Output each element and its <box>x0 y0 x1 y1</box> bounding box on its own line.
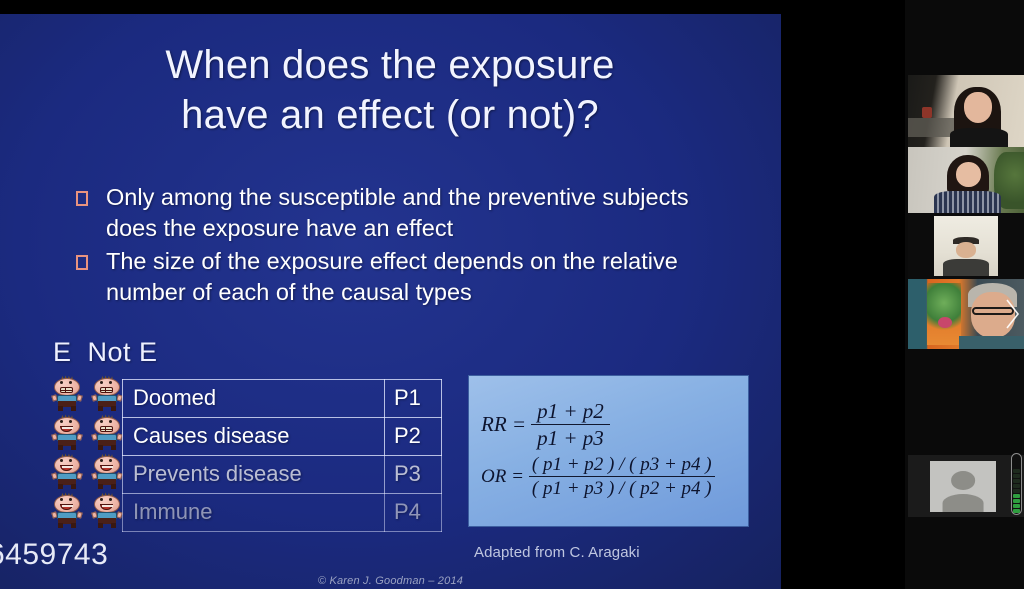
bullet-square-icon <box>76 255 88 270</box>
person-figure-icon <box>50 374 84 412</box>
column-header-not-exposed: Not E <box>88 337 158 367</box>
cell-type: Immune <box>123 494 385 532</box>
chevron-right-icon[interactable] <box>1002 295 1022 333</box>
avatar <box>930 461 996 512</box>
rr-label: RR = <box>481 412 526 437</box>
list-item: The size of the exposure effect depends … <box>76 246 716 308</box>
person-figure-icon <box>50 452 84 490</box>
person-figure-icon <box>50 413 84 451</box>
cell-type: Prevents disease <box>123 456 385 494</box>
copyright-notice: © Karen J. Goodman – 2014 <box>0 575 781 587</box>
participant-video-tile-3[interactable] <box>908 213 1024 279</box>
rr-denominator: p1 + p3 <box>531 424 610 450</box>
presentation-slide: When does the exposure have an effect (o… <box>0 14 781 589</box>
exposure-column-headers: ENot E <box>53 336 158 368</box>
cell-proportion: P2 <box>385 418 442 456</box>
screen-root: When does the exposure have an effect (o… <box>0 0 1024 589</box>
participant-filmstrip <box>905 0 1024 589</box>
or-numerator: ( p1 + p2 ) / ( p3 + p4 ) <box>529 455 715 477</box>
bullet-text: The size of the exposure effect depends … <box>106 246 716 308</box>
or-fraction: ( p1 + p2 ) / ( p3 + p4 ) ( p1 + p3 ) / … <box>529 455 715 500</box>
figure-column-exposed <box>50 374 84 529</box>
video-feed <box>908 75 1024 147</box>
attribution-note: Adapted from C. Aragaki <box>474 544 640 561</box>
table-row: Doomed P1 <box>123 380 442 418</box>
slide-number: 6459743 <box>0 538 108 572</box>
odds-ratio-formula: OR = ( p1 + p2 ) / ( p3 + p4 ) ( p1 + p3… <box>481 455 736 500</box>
video-feed <box>908 147 1024 213</box>
causal-types-table: Doomed P1 Causes disease P2 Prevents dis… <box>122 379 442 532</box>
bullet-text: Only among the susceptible and the preve… <box>106 182 716 244</box>
video-feed <box>908 213 1024 279</box>
participant-video-tile-1[interactable] <box>908 75 1024 147</box>
formula-box: RR = p1 + p2 p1 + p3 OR = ( p1 + p2 ) / … <box>468 375 749 527</box>
figure-column-not-exposed <box>90 374 124 529</box>
rr-numerator: p1 + p2 <box>531 400 610 424</box>
causal-type-figures <box>50 374 124 529</box>
audio-level-meter <box>1011 453 1022 515</box>
cell-type: Doomed <box>123 380 385 418</box>
or-label: OR = <box>481 466 524 488</box>
table-row: Causes disease P2 <box>123 418 442 456</box>
person-figure-icon <box>90 452 124 490</box>
participant-video-tile-5[interactable] <box>908 455 1024 517</box>
bullet-square-icon <box>76 191 88 206</box>
person-figure-icon <box>90 491 124 529</box>
cell-proportion: P3 <box>385 456 442 494</box>
cell-proportion: P4 <box>385 494 442 532</box>
page-title: When does the exposure have an effect (o… <box>40 40 740 140</box>
participant-video-tile-2[interactable] <box>908 147 1024 213</box>
table-row: Prevents disease P3 <box>123 456 442 494</box>
list-item: Only among the susceptible and the preve… <box>76 182 716 244</box>
person-figure-icon <box>90 374 124 412</box>
person-figure-icon <box>50 491 84 529</box>
table-row: Immune P4 <box>123 494 442 532</box>
column-header-exposed: E <box>53 337 72 367</box>
bullet-list: Only among the susceptible and the preve… <box>76 182 716 310</box>
risk-ratio-formula: RR = p1 + p2 p1 + p3 <box>481 400 736 449</box>
rr-fraction: p1 + p2 p1 + p3 <box>531 400 610 449</box>
cell-proportion: P1 <box>385 380 442 418</box>
cell-type: Causes disease <box>123 418 385 456</box>
or-denominator: ( p1 + p3 ) / ( p2 + p4 ) <box>529 476 715 500</box>
person-figure-icon <box>90 413 124 451</box>
